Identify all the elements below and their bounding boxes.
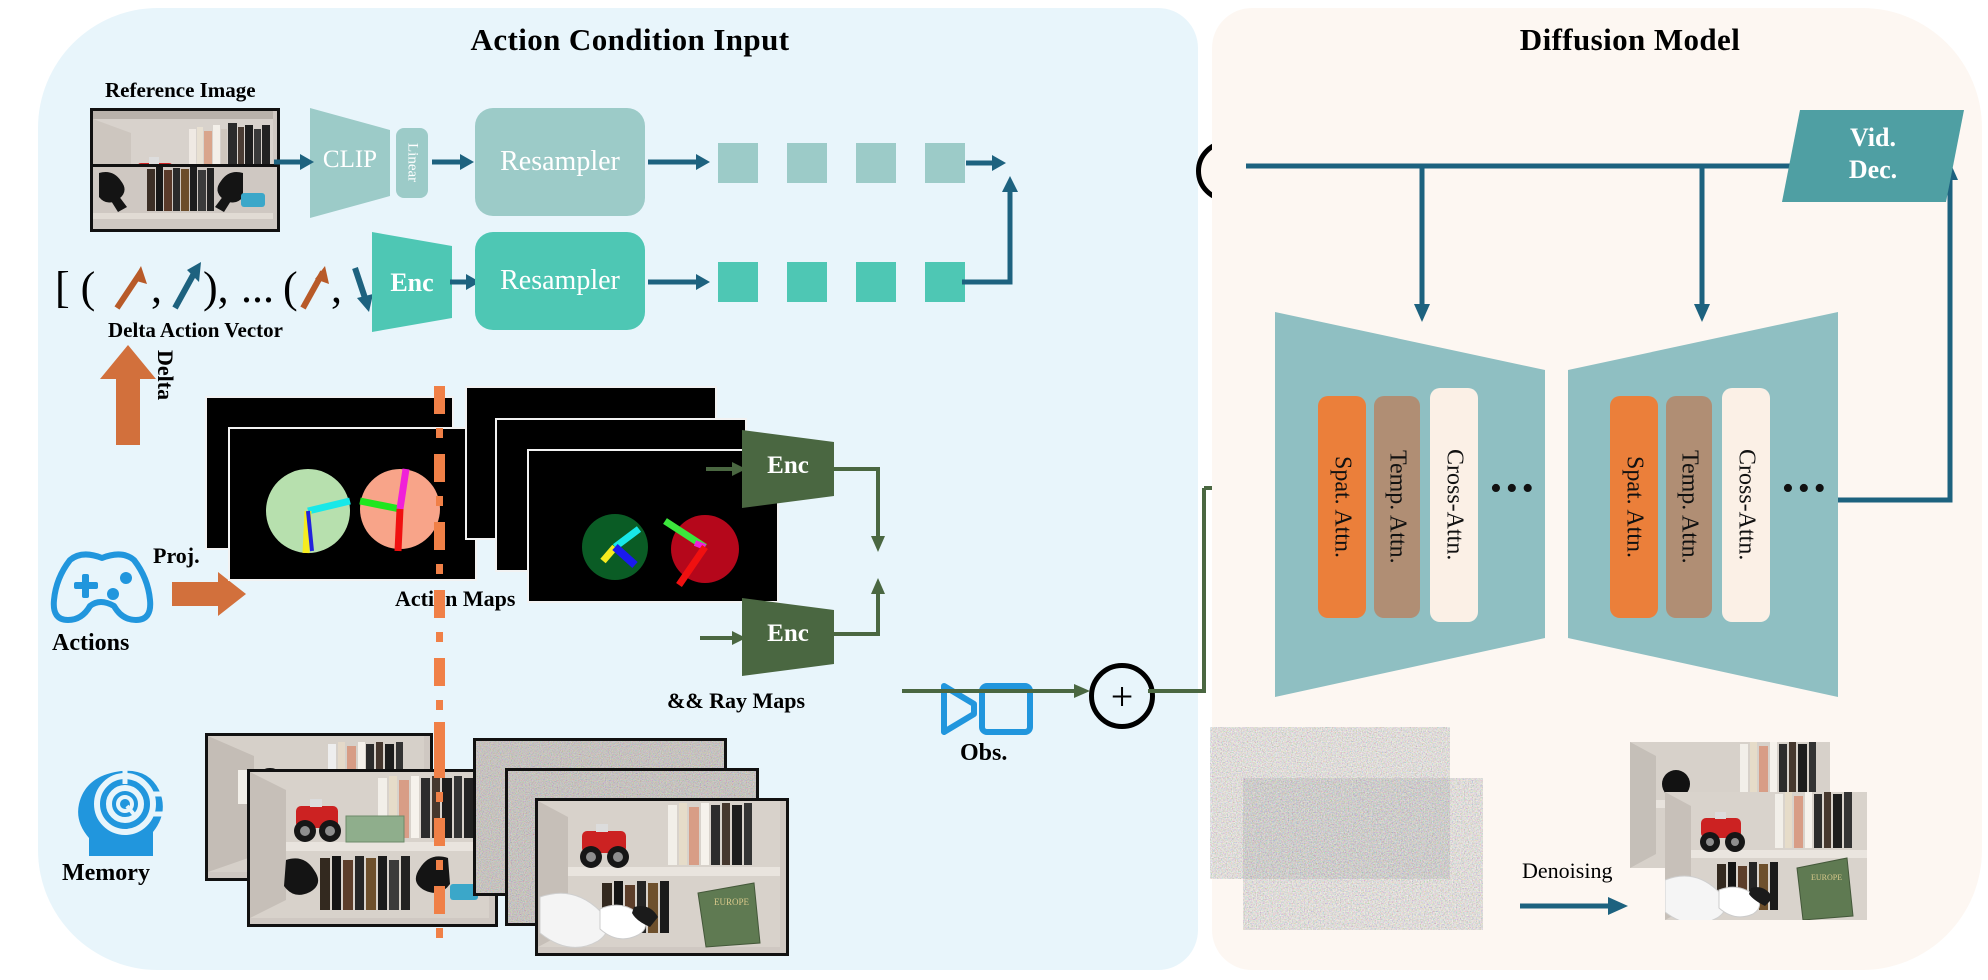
unet-up-temp-attn-label: Temp. Attn. [1676, 450, 1703, 564]
unet-down-cross-attn: Cross-Attn. [1430, 388, 1478, 622]
delta-arrow [100, 345, 160, 445]
enc-action-label: Enc [372, 268, 452, 298]
divider-dashdot-2 [433, 750, 447, 965]
enc-maps-label: Enc [742, 452, 834, 480]
unet-down-spat-attn: Spat. Attn. [1318, 396, 1366, 618]
memory-label: Memory [62, 860, 150, 887]
delta-action-vector-expression: [ ( , ), ... ( , ) ] [55, 246, 385, 326]
divider-dashdot-1 [433, 386, 447, 750]
plus-symbol-2: + [1111, 673, 1134, 720]
arrow-unet-to-viddec [1838, 160, 1968, 500]
denoising-label: Denoising [1522, 858, 1612, 884]
right-panel-title: Diffusion Model [1420, 22, 1840, 58]
actions-label: Actions [52, 630, 129, 657]
linear-label: Linear [404, 143, 421, 182]
svg-text:),: ), [203, 263, 229, 312]
resampler-action-label: Resampler [500, 265, 620, 297]
obs-clean-frame-front: EUROPE [535, 798, 789, 956]
reference-image-label: Reference Image [105, 78, 256, 103]
svg-text:(: ( [283, 263, 298, 312]
denoising-arrow [1520, 896, 1628, 916]
action-token-0 [718, 262, 758, 302]
arrow-resampler-bottom-to-tokens [648, 272, 710, 292]
action-token-1 [787, 262, 827, 302]
vid-dec-label: Vid. Dec. [1782, 122, 1964, 186]
resampler-action-block: Resampler [475, 232, 645, 330]
arrow-enc-maps-to-sum [830, 466, 900, 558]
linear-block: Linear [396, 128, 428, 198]
delta-arrow-label-wrap: Delta [152, 350, 178, 405]
obs-label: Obs. [960, 740, 1007, 767]
resampler-image-block: Resampler [475, 108, 645, 216]
memory-photo-front [247, 769, 498, 927]
arrow-linear-to-resampler [432, 152, 474, 172]
arrow-action-tokens-to-sum [962, 170, 1032, 290]
action-token-2 [856, 262, 896, 302]
image-token-2 [856, 143, 896, 183]
vid-dec-label-line1: Vid. [1782, 122, 1964, 154]
vid-dec-label-line2: Dec. [1782, 154, 1964, 186]
arrow-obs-to-enc [700, 629, 746, 647]
svg-text:[ (: [ ( [55, 263, 95, 312]
memory-icon [75, 760, 165, 856]
clip-label: CLIP [310, 146, 390, 174]
svg-text:EUROPE: EUROPE [1811, 873, 1842, 882]
arrow-enc-obs-to-sum [830, 570, 900, 640]
svg-text:,: , [331, 263, 342, 312]
resampler-image-label: Resampler [500, 146, 620, 178]
unet-down-ellipsis: ••• [1490, 470, 1538, 508]
unet-up-spat-attn-label: Spat. Attn. [1621, 456, 1648, 558]
action-token-3 [925, 262, 965, 302]
delta-action-vector-label: Delta Action Vector [108, 318, 283, 343]
unet-down-cross-attn-label: Cross-Attn. [1441, 449, 1468, 560]
unet-down-temp-attn: Temp. Attn. [1374, 396, 1420, 618]
arrow-to-latent-sum [902, 682, 1092, 700]
gamepad-icon [48, 548, 156, 626]
unet-up-cross-attn: Cross-Attn. [1722, 388, 1770, 622]
denoised-input-noisy-front [1263, 791, 1463, 917]
unet-up-spat-attn: Spat. Attn. [1610, 396, 1658, 618]
arrow-ref-to-clip [274, 152, 314, 172]
arrow-maps-to-enc [706, 460, 746, 478]
svg-text:EUROPE: EUROPE [714, 897, 750, 907]
reference-image-bottom [90, 164, 280, 232]
unet-down-spat-attn-label: Spat. Attn. [1329, 456, 1356, 558]
unet-down-temp-attn-label: Temp. Attn. [1384, 450, 1411, 564]
denoised-output-front: EUROPE [1665, 792, 1867, 920]
proj-label: Proj. [153, 543, 200, 569]
svg-text:,: , [151, 263, 162, 312]
unet-up-temp-attn: Temp. Attn. [1666, 396, 1712, 618]
image-token-1 [787, 143, 827, 183]
image-token-3 [925, 143, 965, 183]
image-token-0 [718, 143, 758, 183]
action-maps-label: Action Maps [395, 586, 515, 612]
arrow-resampler-top-to-tokens [648, 152, 710, 172]
svg-text:...: ... [241, 263, 274, 312]
left-panel-title: Action Condition Input [330, 22, 930, 58]
enc-obs-label: Enc [742, 620, 834, 648]
delta-arrow-label: Delta [152, 350, 178, 400]
unet-up-cross-attn-label: Cross-Attn. [1733, 449, 1760, 560]
unet-up-ellipsis: ••• [1782, 470, 1830, 508]
ray-maps-label: && Ray Maps [667, 688, 805, 714]
